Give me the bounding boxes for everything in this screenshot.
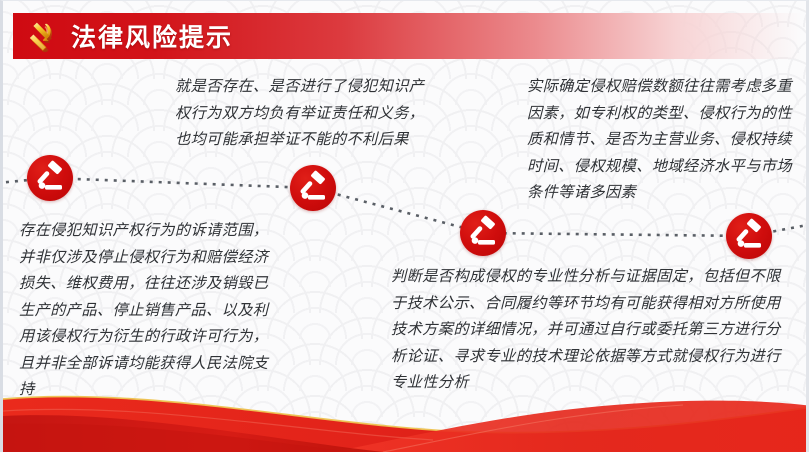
gavel-node-4[interactable] — [726, 213, 772, 259]
gavel-node-3[interactable] — [460, 210, 506, 256]
text-block-4: 实际确定侵权赔偿数额往往需考虑多重因素，如专利权的类型、侵权行为的性质和情节、是… — [527, 73, 803, 206]
text-block-3: 判断是否构成侵权的专业性分析与证据固定，包括但不限于技术公示、合同履约等环节均有… — [391, 263, 795, 396]
cpc-party-emblem-icon — [25, 20, 59, 52]
text-block-1: 存在侵犯知识产权行为的诉请范围，并非仅涉及停止侵权行为和赔偿经济损失、维权费用，… — [19, 217, 275, 403]
page-title: 法律风险提示 — [71, 18, 233, 54]
gavel-node-1[interactable] — [27, 155, 73, 201]
gavel-node-2[interactable] — [290, 165, 336, 211]
slide-canvas: 法律风险提示 — [0, 0, 809, 452]
header-banner: 法律风险提示 — [13, 13, 802, 59]
text-block-2: 就是否存在、是否进行了侵犯知识产权行为双方均负有举证责任和义务，也均可能承担举证… — [175, 73, 437, 153]
